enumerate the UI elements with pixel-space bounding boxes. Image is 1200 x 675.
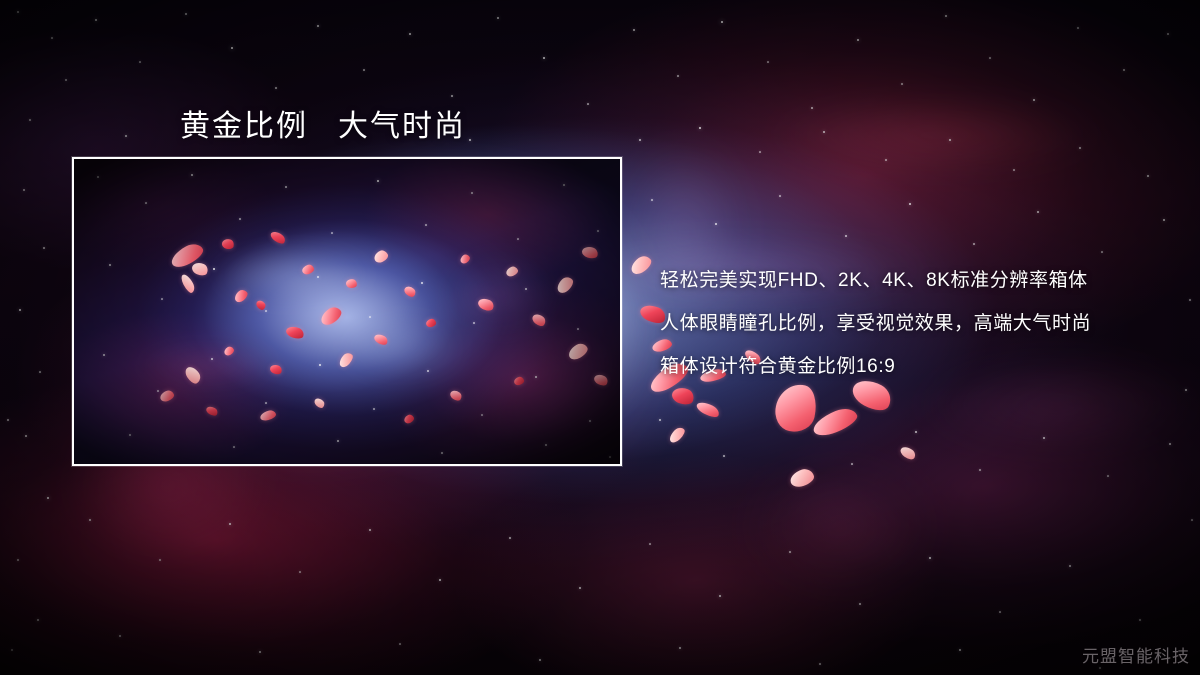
slide-canvas: 黄金比例大气时尚 轻松完美实现FHD、2K、4K、8K标准分辨率箱体 人体眼睛瞳… (0, 0, 1200, 675)
page-title: 黄金比例大气时尚 (180, 101, 466, 145)
description-line-3: 箱体设计符合黄金比例16:9 (660, 345, 1091, 388)
description-line-2: 人体眼睛瞳孔比例，享受视觉效果，高端大气时尚 (660, 302, 1091, 345)
panel-vignette (74, 159, 620, 464)
golden-ratio-preview-panel[interactable] (72, 157, 622, 466)
title-part-two: 大气时尚 (338, 110, 466, 143)
description-text-block: 轻松完美实现FHD、2K、4K、8K标准分辨率箱体 人体眼睛瞳孔比例，享受视觉效… (660, 259, 1091, 388)
watermark-logo: 元盟智能科技 (1082, 642, 1190, 667)
description-line-1: 轻松完美实现FHD、2K、4K、8K标准分辨率箱体 (660, 259, 1091, 302)
title-part-one: 黄金比例 (180, 110, 308, 143)
